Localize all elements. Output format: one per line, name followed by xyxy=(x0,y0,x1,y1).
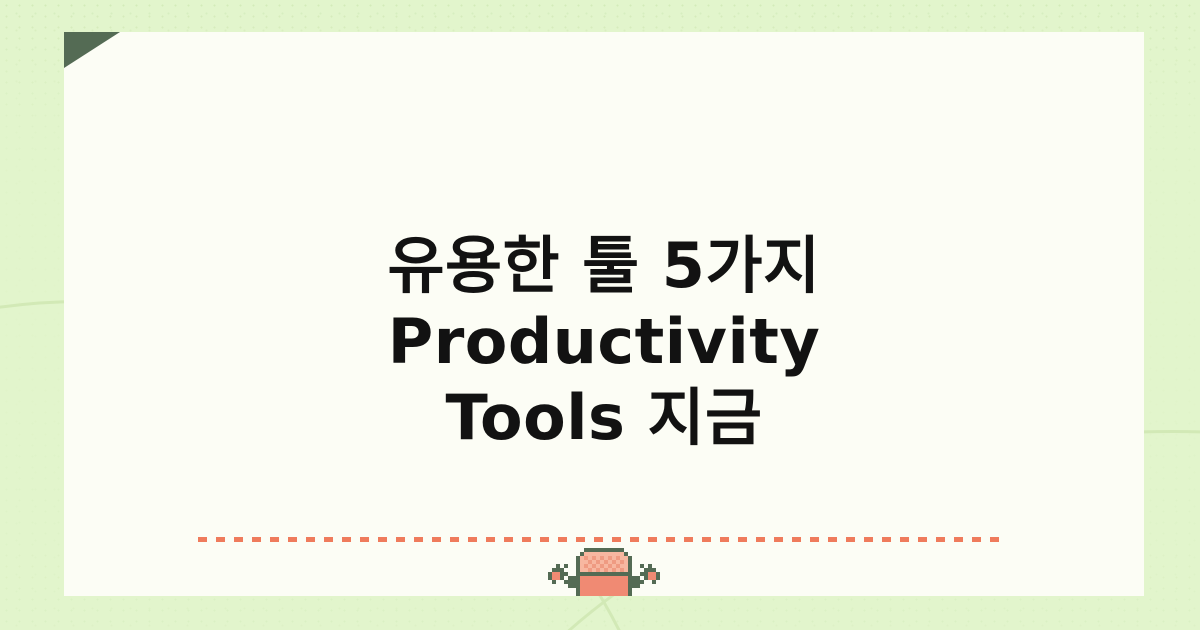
title-line-2: Productivity xyxy=(124,304,1084,380)
page-title: 유용한 툴 5가지 Productivity Tools 지금 xyxy=(64,228,1144,456)
poster-canvas: 유용한 툴 5가지 Productivity Tools 지금 xyxy=(0,0,1200,630)
pixel-robot-mascot-icon xyxy=(548,548,660,596)
corner-triangle-icon xyxy=(64,32,120,68)
title-line-1: 유용한 툴 5가지 xyxy=(124,228,1084,304)
content-card: 유용한 툴 5가지 Productivity Tools 지금 xyxy=(64,32,1144,596)
dashed-divider xyxy=(198,537,1000,542)
mascot-container xyxy=(64,548,1144,596)
title-line-3: Tools 지금 xyxy=(124,380,1084,456)
